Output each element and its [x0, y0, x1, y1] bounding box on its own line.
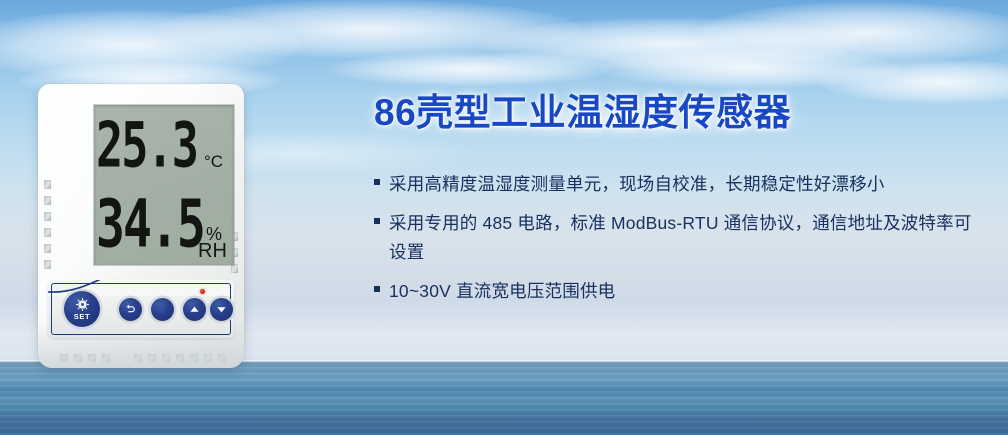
control-panel: SET [48, 280, 234, 338]
back-button[interactable] [119, 298, 142, 321]
feature-list: 采用高精度温湿度测量单元，现场自校准，长期稳定性好漂移小 采用专用的 485 电… [374, 170, 986, 316]
vent-slot [44, 260, 51, 269]
cloud-decoration [160, 0, 580, 58]
up-button[interactable] [183, 298, 206, 321]
gear-icon [75, 297, 90, 312]
vent-slot [44, 212, 51, 221]
lcd-display: 25.3 °C 34.5 % RH [94, 105, 234, 265]
cloud-decoration [820, 60, 1008, 104]
list-item: 采用专用的 485 电路，标准 ModBus-RTU 通信协议，通信地址及波特率… [374, 209, 986, 267]
feature-text: 采用专用的 485 电路，标准 ModBus-RTU 通信协议，通信地址及波特率… [389, 209, 986, 267]
undo-arrow-icon [124, 303, 137, 316]
list-item: 采用高精度温湿度测量单元，现场自校准，长期稳定性好漂移小 [374, 170, 986, 199]
chevron-left-icon [157, 304, 168, 315]
left-button[interactable] [151, 298, 174, 321]
lcd-humidity-row: 34.5 % RH [94, 181, 234, 263]
triangle-up-icon [189, 304, 200, 315]
set-button[interactable]: SET [64, 291, 100, 327]
vent-slot [231, 264, 238, 273]
temperature-reading: 25.3 [96, 115, 197, 177]
vent-slot [44, 196, 51, 205]
bullet-marker-icon [374, 286, 380, 292]
vent-slot [44, 244, 51, 253]
cloud-decoration [330, 52, 610, 86]
vent-slot [44, 228, 51, 237]
bullet-marker-icon [374, 218, 380, 224]
bullet-marker-icon [374, 179, 380, 185]
humidity-reading: 34.5 [96, 191, 204, 257]
cloud-decoration [0, 10, 300, 80]
temperature-unit-label: °C [204, 153, 223, 170]
cloud-decoration [480, 18, 860, 70]
sea-background [0, 361, 1008, 435]
list-item: 10~30V 直流宽电压范围供电 [374, 277, 986, 306]
page-title: 86壳型工业温湿度传感器 [374, 82, 791, 136]
cloud-decoration [700, 2, 1008, 64]
feature-text: 采用高精度温湿度测量单元，现场自校准，长期稳定性好漂移小 [389, 170, 885, 199]
temperature-humidity-sensor-device: 25.3 °C 34.5 % RH [38, 84, 244, 368]
product-banner: 25.3 °C 34.5 % RH [0, 0, 1008, 435]
set-button-label: SET [74, 313, 90, 321]
status-led-indicator [200, 289, 205, 294]
feature-text: 10~30V 直流宽电压范围供电 [389, 277, 615, 306]
down-button[interactable] [210, 298, 233, 321]
vent-slot [44, 180, 51, 189]
humidity-rh-label: RH [198, 241, 227, 261]
triangle-down-icon [216, 304, 227, 315]
lcd-temperature-row: 25.3 °C [94, 109, 234, 187]
